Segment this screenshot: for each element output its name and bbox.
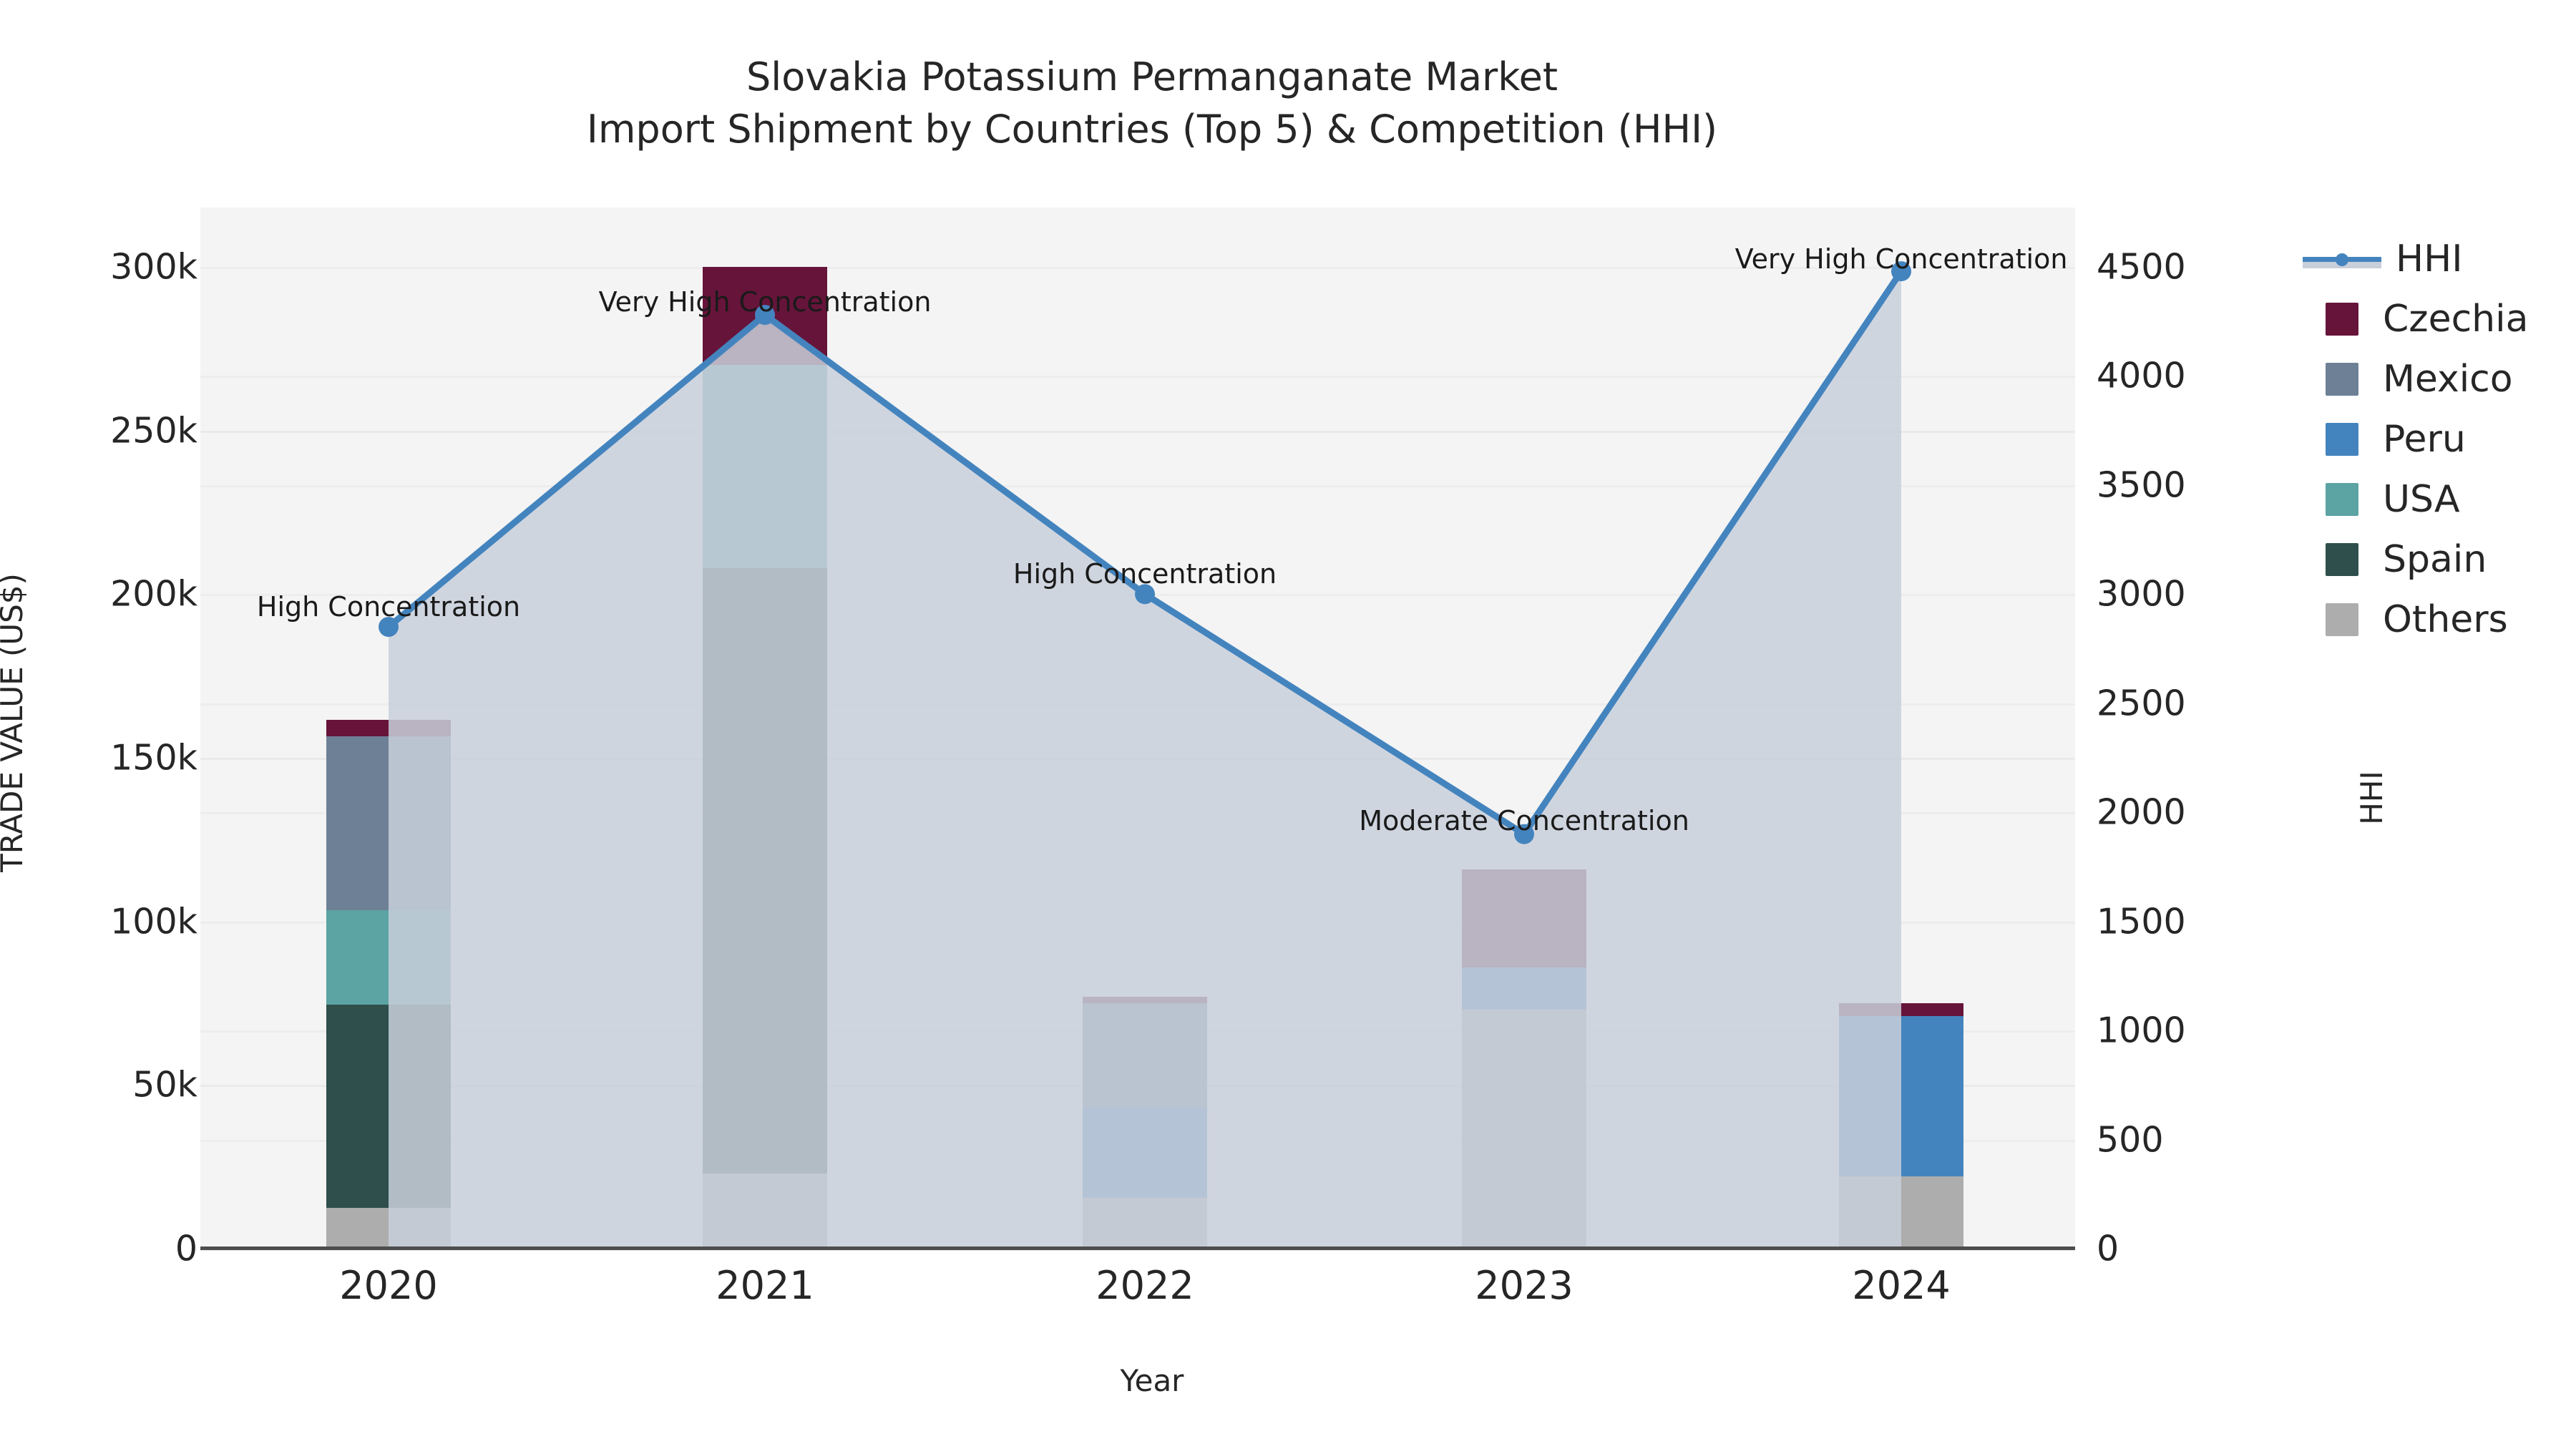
- chart-title: Slovakia Potassium Permanganate Market I…: [0, 52, 2304, 156]
- y-tick-label-left: 150k: [110, 738, 197, 779]
- bar-stack-2023[interactable]: [1462, 208, 1586, 1249]
- legend-swatch-icon: [2326, 423, 2358, 456]
- y-tick-label-right: 1500: [2097, 901, 2186, 942]
- chart-legend: HHICzechiaMexicoPeruUSASpainOthers: [2326, 229, 2569, 650]
- legend-label: HHI: [2396, 238, 2463, 280]
- bar-segment-usa-2020[interactable]: [326, 910, 451, 1005]
- x-axis-baseline: [200, 1246, 2075, 1250]
- legend-line-icon: [2303, 243, 2381, 275]
- x-tick-label: 2020: [339, 1263, 437, 1308]
- x-tick-label: 2023: [1475, 1263, 1573, 1308]
- legend-item-hhi[interactable]: HHI: [2326, 229, 2569, 289]
- y-tick-label-right: 4500: [2097, 247, 2186, 288]
- legend-swatch-icon: [2326, 363, 2358, 396]
- legend-label: Mexico: [2383, 358, 2513, 401]
- x-axis-label: Year: [0, 1363, 2304, 1398]
- y-tick-label-right: 3500: [2097, 464, 2186, 505]
- bar-segment-others-2022[interactable]: [1083, 1198, 1207, 1249]
- annotation-2020: High Concentration: [257, 591, 520, 623]
- bar-segment-mexico-2020[interactable]: [326, 736, 451, 909]
- legend-swatch-icon: [2326, 483, 2358, 516]
- y-tick-label-right: 2500: [2097, 683, 2186, 723]
- legend-item-others[interactable]: Others: [2326, 590, 2569, 650]
- y-tick-label-right: 1000: [2097, 1010, 2186, 1051]
- legend-item-usa[interactable]: USA: [2326, 469, 2569, 530]
- bar-segment-usa-2021[interactable]: [703, 365, 827, 568]
- annotation-2024: Very High Concentration: [1735, 243, 2068, 275]
- legend-swatch-icon: [2326, 303, 2358, 336]
- y-tick-label-right: 0: [2097, 1229, 2119, 1269]
- legend-label: Others: [2383, 598, 2508, 641]
- x-tick-label: 2024: [1852, 1263, 1950, 1308]
- x-tick-label: 2021: [716, 1263, 814, 1308]
- y-tick-label-right: 4000: [2097, 356, 2186, 396]
- bar-segment-czechia-2023[interactable]: [1462, 869, 1586, 967]
- bar-segment-others-2020[interactable]: [326, 1208, 451, 1249]
- y-tick-label-left: 50k: [132, 1065, 197, 1106]
- chart-figure: Slovakia Potassium Permanganate Market I…: [0, 0, 2576, 1449]
- y-axis-label-left: TRADE VALUE (US$): [0, 573, 29, 872]
- y-tick-label-right: 500: [2097, 1119, 2164, 1160]
- legend-label: USA: [2383, 478, 2460, 521]
- y-tick-label-left: 250k: [110, 410, 197, 451]
- bar-stack-2020[interactable]: [326, 208, 451, 1249]
- annotation-2022: High Concentration: [1013, 558, 1277, 590]
- plot-area: [200, 208, 2075, 1249]
- bar-segment-spain-2020[interactable]: [326, 1005, 451, 1208]
- bar-segment-czechia-2022[interactable]: [1083, 997, 1207, 1003]
- legend-label: Czechia: [2383, 298, 2528, 341]
- bar-segment-peru-2023[interactable]: [1462, 967, 1586, 1010]
- annotation-2023: Moderate Concentration: [1359, 805, 1689, 836]
- legend-item-spain[interactable]: Spain: [2326, 530, 2569, 590]
- bar-segment-spain-2021[interactable]: [703, 568, 827, 1174]
- legend-item-mexico[interactable]: Mexico: [2326, 349, 2569, 409]
- chart-title-line-1: Slovakia Potassium Permanganate Market: [0, 52, 2304, 104]
- bar-segment-others-2023[interactable]: [1462, 1010, 1586, 1249]
- annotation-2021: Very High Concentration: [599, 286, 932, 318]
- bar-segment-czechia-2024[interactable]: [1839, 1003, 1963, 1016]
- legend-swatch-icon: [2326, 543, 2358, 576]
- bar-segment-czechia-2020[interactable]: [326, 720, 451, 736]
- x-tick-label: 2022: [1096, 1263, 1194, 1308]
- y-tick-label-right: 2000: [2097, 792, 2186, 833]
- y-tick-label-left: 0: [175, 1229, 197, 1269]
- y-axis-label-right: HHI: [2354, 771, 2389, 825]
- bar-segment-mexico-2022[interactable]: [1083, 1003, 1207, 1108]
- bar-segment-peru-2022[interactable]: [1083, 1108, 1207, 1198]
- y-tick-label-right: 3000: [2097, 574, 2186, 615]
- legend-swatch-icon: [2326, 603, 2358, 636]
- bar-segment-others-2024[interactable]: [1839, 1176, 1963, 1249]
- bar-stack-2021[interactable]: [703, 208, 827, 1249]
- y-tick-label-left: 300k: [110, 247, 197, 288]
- y-tick-label-left: 200k: [110, 574, 197, 615]
- bar-segment-peru-2024[interactable]: [1839, 1016, 1963, 1176]
- legend-item-peru[interactable]: Peru: [2326, 409, 2569, 469]
- bar-segment-others-2021[interactable]: [703, 1174, 827, 1249]
- bar-stack-2024[interactable]: [1839, 208, 1963, 1249]
- chart-title-line-2: Import Shipment by Countries (Top 5) & C…: [0, 104, 2304, 156]
- bar-stack-2022[interactable]: [1083, 208, 1207, 1249]
- legend-label: Peru: [2383, 418, 2466, 461]
- legend-label: Spain: [2383, 538, 2487, 581]
- y-tick-label-left: 100k: [110, 901, 197, 942]
- legend-item-czechia[interactable]: Czechia: [2326, 289, 2569, 349]
